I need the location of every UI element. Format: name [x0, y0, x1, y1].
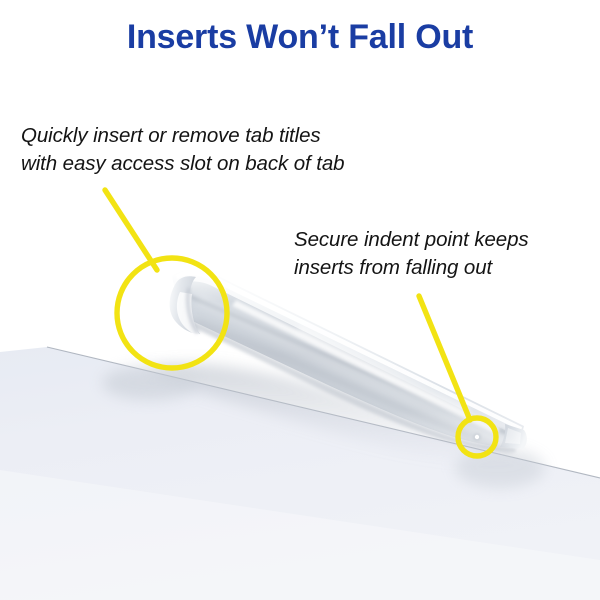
page-title: Inserts Won’t Fall Out	[0, 18, 600, 56]
infographic-canvas: Inserts Won’t Fall Out Quickly insert or…	[0, 0, 600, 600]
callout-text-right: Secure indent point keeps inserts from f…	[294, 226, 529, 283]
indent-point	[473, 433, 480, 440]
callout-text-left: Quickly insert or remove tab titles with…	[21, 122, 344, 179]
product-photo	[0, 0, 600, 600]
